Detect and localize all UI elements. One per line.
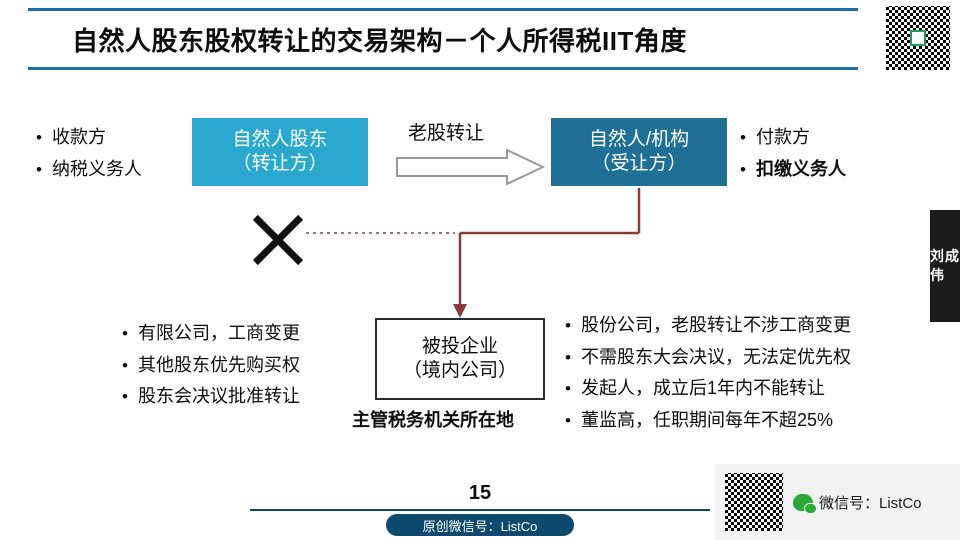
wechat-icon (793, 494, 813, 511)
box-transferor-line2: （转让方） (232, 152, 327, 176)
tax-authority-note: 主管税务机关所在地 (352, 406, 514, 432)
bullet-text: 扣缴义务人 (756, 154, 846, 186)
list-item: • 不需股东大会决议，无法定优先权 (565, 342, 851, 374)
bullets-right-bottom: • 股份公司，老股转让不涉工商变更 • 不需股东大会决议，无法定优先权 • 发起… (565, 310, 851, 436)
title-band: 自然人股东股权转让的交易架构－个人所得税IIT角度 (28, 8, 858, 70)
bullet-dot: • (565, 406, 581, 436)
bullet-text: 纳税义务人 (52, 154, 142, 186)
bullet-text: 发起人，成立后1年内不能转让 (581, 373, 825, 405)
bullet-text: 不需股东大会决议，无法定优先权 (581, 342, 851, 374)
bullets-right-top: • 付款方 • 扣缴义务人 (740, 122, 846, 185)
bullet-text: 其他股东优先购买权 (138, 350, 300, 382)
qr-code-icon (884, 4, 952, 72)
list-item: • 其他股东优先购买权 (122, 350, 300, 382)
box-transferee: 自然人/机构 （受让方） (551, 118, 727, 186)
box-target-line1: 被投企业 (422, 335, 498, 359)
bullet-dot: • (122, 319, 138, 349)
list-item: • 收款方 (36, 122, 142, 154)
list-item: • 股东会决议批准转让 (122, 381, 300, 413)
bullet-dot: • (122, 351, 138, 381)
wechat-label: 微信号：ListCo (819, 492, 922, 513)
list-item: • 股份公司，老股转让不涉工商变更 (565, 310, 851, 342)
list-item: • 有限公司，工商变更 (122, 318, 300, 350)
list-item: • 纳税义务人 (36, 154, 142, 186)
wechat-promo-bar: 微信号：ListCo (715, 464, 960, 540)
page-title: 自然人股东股权转让的交易架构－个人所得税IIT角度 (72, 21, 687, 58)
bullet-dot: • (565, 374, 581, 404)
bullet-dot: • (740, 123, 756, 153)
box-target-line2: （境内公司） (403, 359, 517, 383)
qr-center-logo (910, 30, 926, 46)
bullet-text: 付款方 (756, 122, 810, 154)
arrow-label: 老股转让 (408, 118, 484, 145)
list-item: • 发起人，成立后1年内不能转让 (565, 373, 851, 405)
bullet-text: 股东会决议批准转让 (138, 381, 300, 413)
bullets-left-bottom: • 有限公司，工商变更 • 其他股东优先购买权 • 股东会决议批准转让 (122, 318, 300, 413)
bullet-dot: • (740, 155, 756, 185)
slide-root: 自然人股东股权转让的交易架构－个人所得税IIT角度 自然人股东 （转让方） 自然… (0, 0, 960, 540)
box-transferee-line2: （受让方） (591, 152, 686, 176)
bullet-dot: • (36, 155, 52, 185)
bullet-dot: • (565, 311, 581, 341)
bullet-text: 有限公司，工商变更 (138, 318, 300, 350)
qr-code-icon (725, 473, 783, 531)
footer-pill: 原创微信号：ListCo (386, 514, 574, 536)
box-transferor-line1: 自然人股东 (232, 128, 327, 152)
box-target-company: 被投企业 （境内公司） (375, 318, 545, 400)
bullet-text: 股份公司，老股转让不涉工商变更 (581, 310, 851, 342)
bullet-dot: • (36, 123, 52, 153)
list-item: • 付款方 (740, 122, 846, 154)
box-transferee-line1: 自然人/机构 (589, 128, 689, 152)
bullet-dot: • (122, 382, 138, 412)
bullet-text: 董监高，任职期间每年不超25% (581, 405, 833, 437)
footer-rule (250, 509, 710, 511)
bullets-left-top: • 收款方 • 纳税义务人 (36, 122, 142, 185)
bullet-text: 收款方 (52, 122, 106, 154)
right-arrow-icon (395, 148, 545, 186)
list-item: • 扣缴义务人 (740, 154, 846, 186)
wechat-label-wrap: 微信号：ListCo (793, 492, 922, 513)
bullet-dot: • (565, 343, 581, 373)
author-tab: 刘成伟 (930, 210, 960, 322)
cross-mark-icon (250, 212, 306, 268)
connector-lines (0, 0, 960, 540)
box-transferor: 自然人股东 （转让方） (192, 118, 368, 186)
list-item: • 董监高，任职期间每年不超25% (565, 405, 851, 437)
